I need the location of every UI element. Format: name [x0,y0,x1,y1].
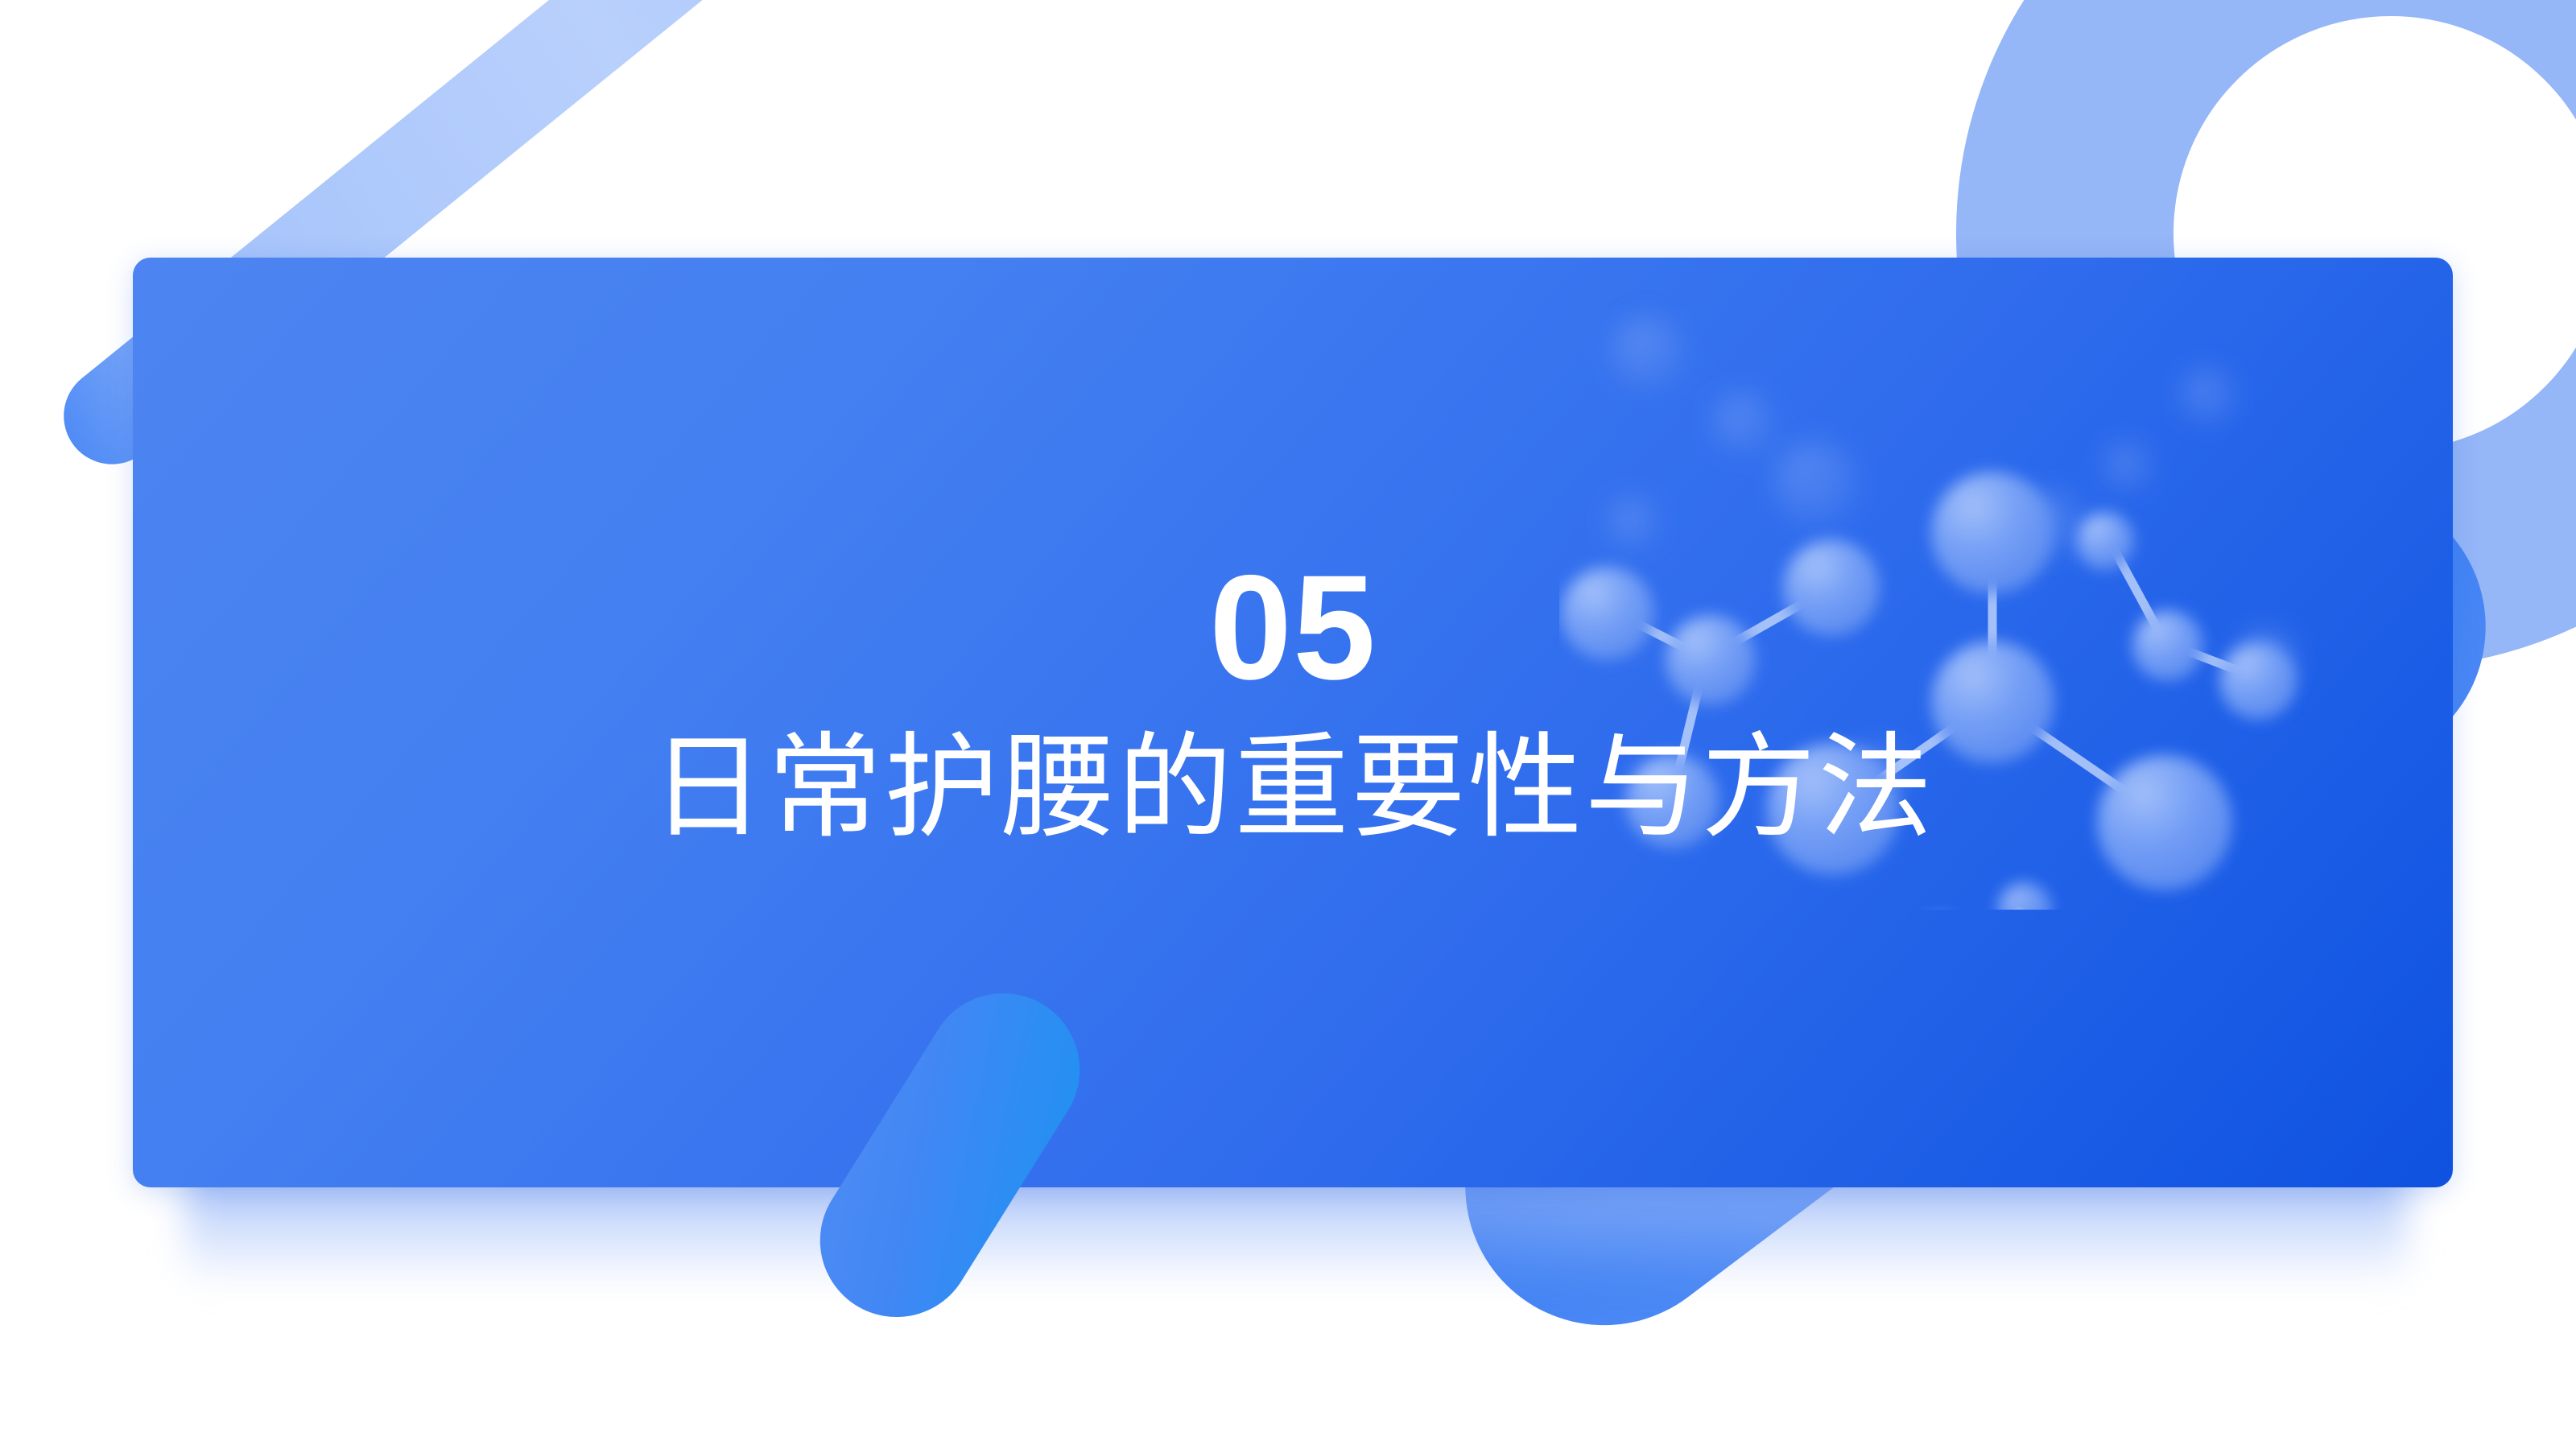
section-title: 日常护腰的重要性与方法 [651,718,1935,857]
section-number: 05 [1209,552,1377,704]
section-card-inner: 05 日常护腰的重要性与方法 [133,258,2453,1187]
slide-root: 05 日常护腰的重要性与方法 [0,0,2576,1449]
section-text-block: 05 日常护腰的重要性与方法 [133,258,2453,1170]
section-card: 05 日常护腰的重要性与方法 [133,258,2453,1187]
